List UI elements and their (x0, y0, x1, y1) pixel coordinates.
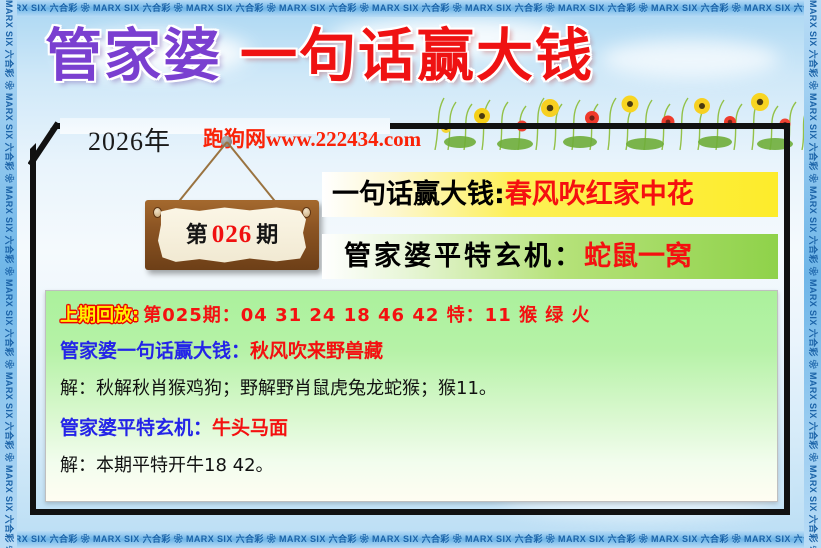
poster-page: 2026年 跑狗网www.222434.com 管家婆一句话赢大钱 第026期 … (0, 0, 821, 548)
special-label: 管家婆平特玄机： (60, 417, 212, 439)
cloud-decoration (600, 40, 780, 78)
special-value: 牛头马面 (212, 417, 288, 439)
banner-special-label: 管家婆平特玄机： (322, 241, 584, 272)
phrase-label: 管家婆一句话赢大钱： (60, 340, 250, 362)
special-line: 管家婆平特玄机：牛头马面 (60, 413, 288, 440)
border-pattern-text: MARX SIX 六合彩 ❀ MARX SIX 六合彩 ❀ MARX SIX 六… (0, 0, 17, 548)
banner-special: 管家婆平特玄机：蛇鼠一窝 (322, 234, 778, 279)
title-brand: 管家婆 (45, 23, 222, 89)
page-title: 管家婆一句话赢大钱 (45, 28, 594, 85)
playback-line: 上期回放:第025期：04 31 24 18 46 42 特：11 猴 绿 火 (60, 301, 591, 327)
hanging-sign: 第026期 (115, 136, 345, 281)
flower-grass-illustration (430, 88, 810, 150)
border-pattern-text: MARX SIX 六合彩 ❀ MARX SIX 六合彩 ❀ MARX SIX 六… (804, 0, 821, 548)
sign-board: 第026期 (145, 200, 319, 270)
banner-phrase-label: 一句话赢大钱: (322, 179, 505, 210)
border-ribbon-bottom: MARX SIX 六合彩 ❀ MARX SIX 六合彩 ❀ MARX SIX 六… (0, 531, 821, 548)
banner-special-value: 蛇鼠一窝 (584, 241, 692, 272)
border-pattern-text: MARX SIX 六合彩 ❀ MARX SIX 六合彩 ❀ MARX SIX 六… (0, 534, 821, 544)
frame-bevel-corner (28, 121, 74, 167)
phrase-explain: 解：秋解秋肖猴鸡狗；野解野肖鼠虎兔龙蛇猴；猴11。 (60, 374, 497, 400)
playback-value: 第025期：04 31 24 18 46 42 特：11 猴 绿 火 (143, 305, 590, 326)
special-explain: 解：本期平特开牛18 42。 (60, 451, 274, 477)
content-panel: 上期回放:第025期：04 31 24 18 46 42 特：11 猴 绿 火 … (45, 290, 778, 502)
border-ribbon-right: MARX SIX 六合彩 ❀ MARX SIX 六合彩 ❀ MARX SIX 六… (804, 0, 821, 548)
issue-number: 026 (212, 221, 253, 248)
issue-suffix: 期 (256, 222, 278, 247)
sign-paper: 第026期 (158, 207, 306, 263)
phrase-line: 管家婆一句话赢大钱：秋风吹来野兽藏 (60, 336, 383, 363)
title-slogan: 一句话赢大钱 (240, 23, 594, 89)
sign-hole-icon (153, 207, 162, 218)
issue-prefix: 第 (186, 222, 208, 247)
playback-label: 上期回放: (60, 305, 139, 326)
border-ribbon-left: MARX SIX 六合彩 ❀ MARX SIX 六合彩 ❀ MARX SIX 六… (0, 0, 17, 548)
banner-phrase: 一句话赢大钱:春风吹红家中花 (322, 172, 778, 217)
phrase-value: 秋风吹来野兽藏 (250, 340, 383, 362)
banner-phrase-value: 春风吹红家中花 (505, 179, 694, 210)
border-ribbon-top: MARX SIX 六合彩 ❀ MARX SIX 六合彩 ❀ MARX SIX 六… (0, 0, 821, 17)
issue-text: 第026期 (158, 217, 306, 249)
border-pattern-text: MARX SIX 六合彩 ❀ MARX SIX 六合彩 ❀ MARX SIX 六… (0, 3, 821, 13)
